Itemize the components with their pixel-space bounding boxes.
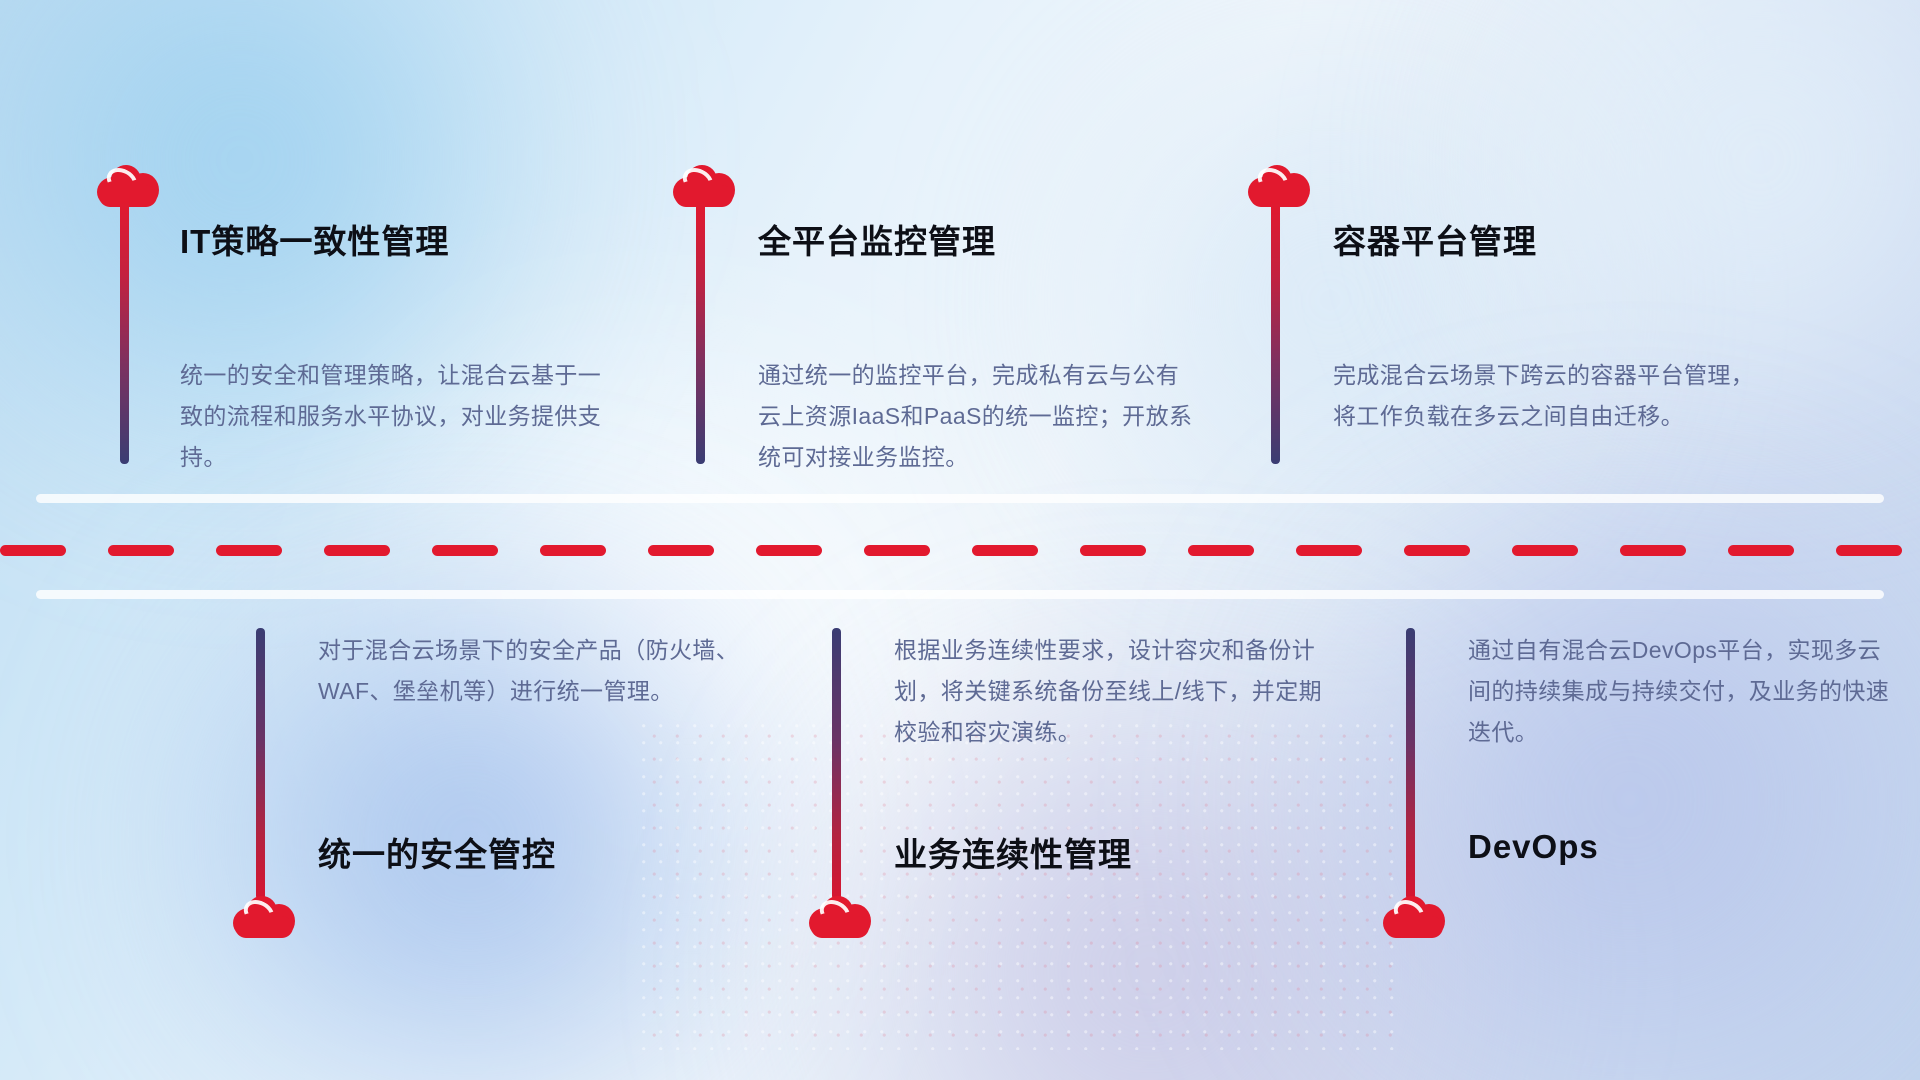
cloud-icon — [809, 896, 871, 938]
divider-dashed-line — [0, 545, 1920, 556]
divider-dash — [1620, 545, 1686, 556]
connector-bar — [256, 628, 265, 900]
divider-dash — [648, 545, 714, 556]
feature-title: 统一的安全管控 — [318, 828, 556, 876]
connector-bar — [120, 200, 129, 464]
connector-bar — [1271, 200, 1280, 464]
divider-dash — [1728, 545, 1794, 556]
divider-dash — [108, 545, 174, 556]
divider-dash — [216, 545, 282, 556]
feature-title: 业务连续性管理 — [894, 828, 1132, 876]
feature-body: 对于混合云场景下的安全产品（防火墙、WAF、堡垒机等）进行统一管理。 — [318, 630, 748, 712]
divider-dash — [432, 545, 498, 556]
feature-title: DevOps — [1468, 828, 1599, 866]
divider-dash — [1404, 545, 1470, 556]
divider-dash — [972, 545, 1038, 556]
connector-bar — [832, 628, 841, 900]
feature-body: 统一的安全和管理策略，让混合云基于一致的流程和服务水平协议，对业务提供支持。 — [180, 355, 610, 478]
feature-body: 完成混合云场景下跨云的容器平台管理，将工作负载在多云之间自由迁移。 — [1333, 355, 1773, 437]
divider-dash — [0, 545, 66, 556]
feature-body: 通过统一的监控平台，完成私有云与公有云上资源IaaS和PaaS的统一监控；开放系… — [758, 355, 1198, 478]
feature-body: 根据业务连续性要求，设计容灾和备份计划，将关键系统备份至线上/线下，并定期校验和… — [894, 630, 1324, 753]
cloud-icon — [1383, 896, 1445, 938]
divider-dash — [756, 545, 822, 556]
divider-dash — [324, 545, 390, 556]
feature-body: 通过自有混合云DevOps平台，实现多云间的持续集成与持续交付，及业务的快速迭代… — [1468, 630, 1898, 753]
connector-bar — [696, 200, 705, 464]
divider-dash — [540, 545, 606, 556]
connector-bar — [1406, 628, 1415, 900]
divider-dash — [1080, 545, 1146, 556]
infographic-canvas: IT策略一致性管理 统一的安全和管理策略，让混合云基于一致的流程和服务水平协议，… — [0, 0, 1920, 1080]
divider-rule-upper — [36, 494, 1884, 503]
divider-dash — [864, 545, 930, 556]
feature-title: IT策略一致性管理 — [180, 215, 449, 263]
cloud-icon — [233, 896, 295, 938]
feature-title: 容器平台管理 — [1333, 215, 1537, 263]
divider-dash — [1188, 545, 1254, 556]
feature-title: 全平台监控管理 — [758, 215, 996, 263]
divider-dash — [1836, 545, 1902, 556]
divider-rule-lower — [36, 590, 1884, 599]
divider-dash — [1296, 545, 1362, 556]
divider-dash — [1512, 545, 1578, 556]
